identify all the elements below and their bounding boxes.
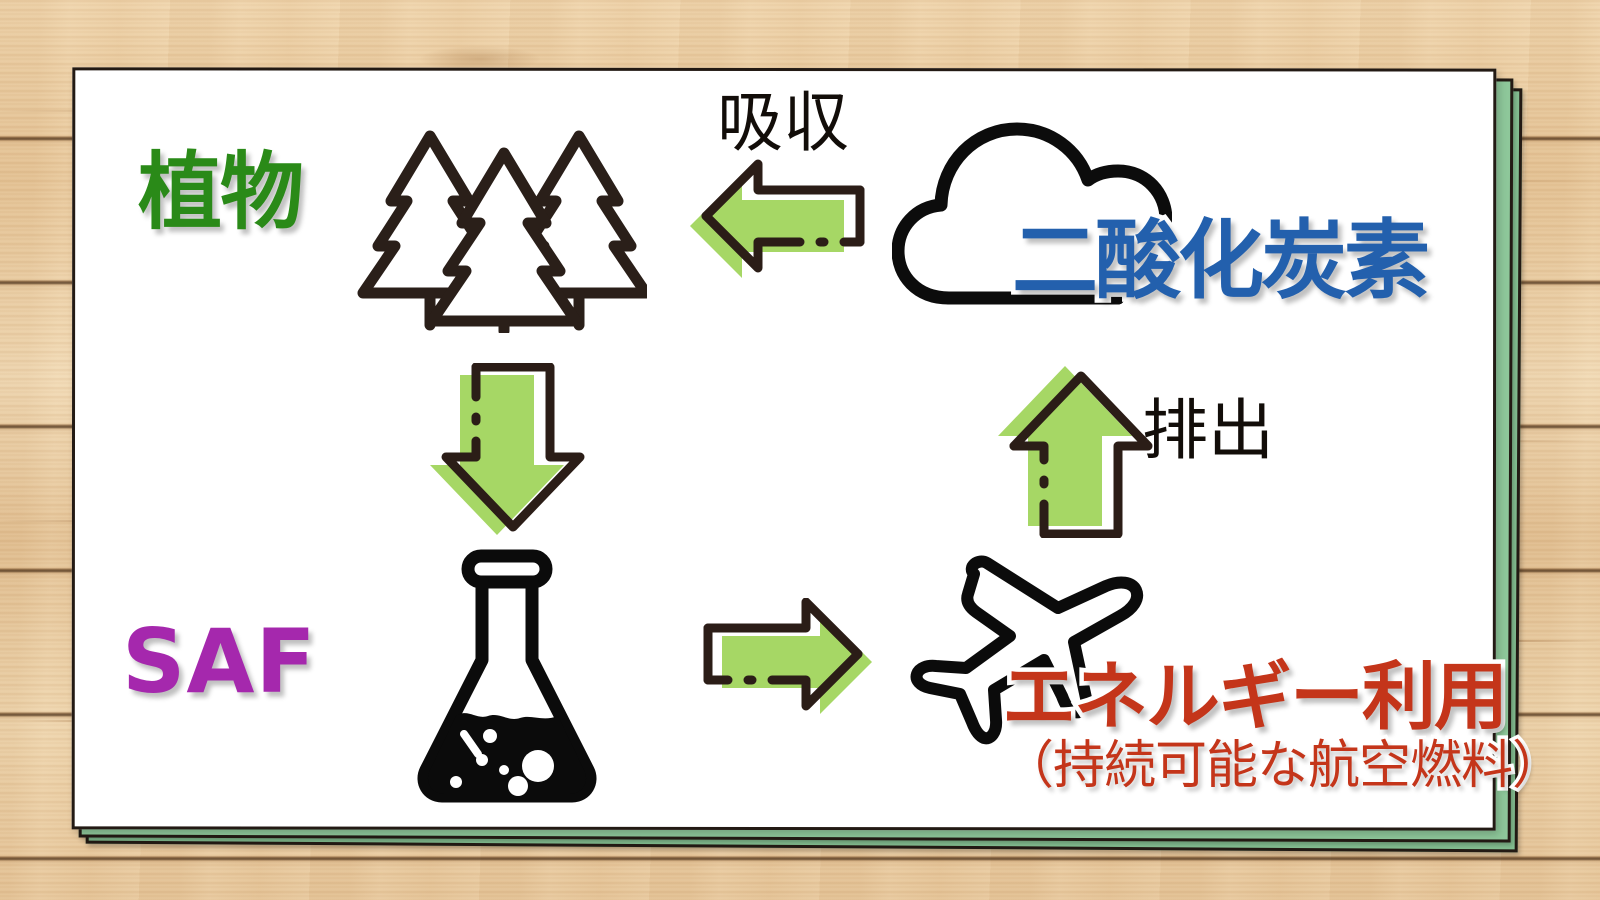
arrow-right-icon bbox=[702, 598, 882, 723]
arrow-up-icon bbox=[992, 358, 1162, 538]
label-emit: 排出 bbox=[1142, 398, 1274, 464]
arrow-down-icon bbox=[424, 363, 594, 543]
pine-trees-icon bbox=[347, 103, 647, 333]
label-co2: 二酸化炭素 bbox=[1012, 218, 1427, 304]
label-energy-use: エネルギー利用 bbox=[1002, 660, 1506, 734]
label-absorb: 吸収 bbox=[717, 90, 849, 156]
label-plants: 植物 bbox=[138, 150, 302, 234]
diagram-canvas: 植物 SAF 二酸化炭素 エネルギー利用 （持続可能な航空燃料） 吸収 排出 bbox=[72, 68, 1496, 830]
erlenmeyer-flask-icon bbox=[412, 548, 602, 808]
label-energy-use-subtitle: （持続可能な航空燃料） bbox=[1002, 740, 1563, 792]
label-saf: SAF bbox=[122, 618, 317, 706]
arrow-left-icon bbox=[684, 158, 874, 288]
